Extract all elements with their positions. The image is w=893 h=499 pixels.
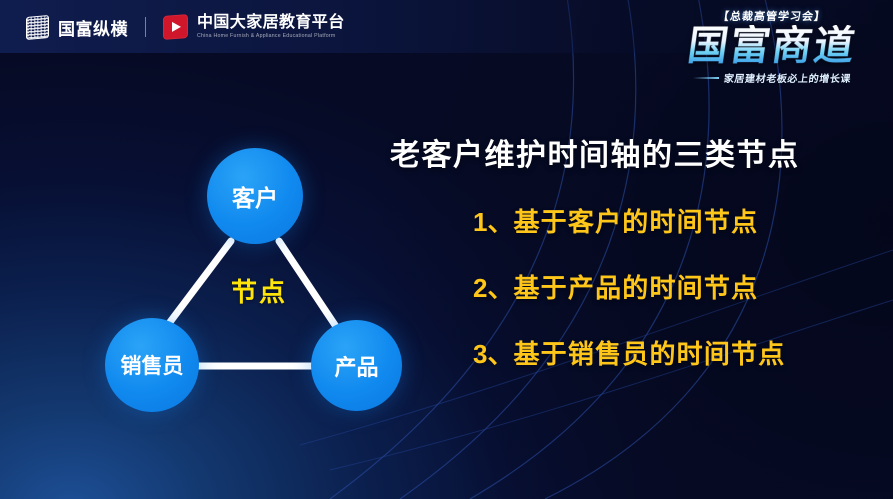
triangle-diagram: 客户 销售员 产品 节点 [85,138,425,428]
diagram-node-product[interactable]: 产品 [311,320,402,411]
brand-name-guofu: 国富纵横 [58,15,128,40]
diagram-center-label: 节点 [85,272,425,309]
list-item: 2、基于产品的时间节点 [473,268,880,305]
list-item-number: 1、 [473,207,513,237]
program-logo-kicker: 【总裁高管学习会】 [664,8,880,24]
partner-brand-en: China Home Furnish & Appliance Education… [197,34,345,39]
play-triangle-icon [172,22,181,32]
partner-brand-cn: 中国大家居教育平台 [197,15,345,31]
diagram-node-salesperson[interactable]: 销售员 [105,318,199,412]
page-title: 老客户维护时间轴的三类节点 [390,130,880,174]
list-item: 1、基于客户的时间节点 [473,202,880,239]
header-left-logos: 国富纵横 中国大家居教育平台 China Home Furnish & Appl… [26,12,345,42]
list-item-text: 基于销售员的时间节点 [513,339,785,369]
diagram-node-customer-label: 客户 [232,179,278,213]
list-item-text: 基于产品的时间节点 [513,273,758,303]
program-logo-subtitle: 家居建材老板必上的增长课 [723,70,852,85]
diagram-node-product-label: 产品 [334,350,378,382]
program-logo-subtitle-row: 家居建材老板必上的增长课 [665,70,879,85]
program-logo: 【总裁高管学习会】 国富商道 家居建材老板必上的增长课 [665,4,879,100]
qr-square-icon [26,14,49,39]
presentation-slide: 国富纵横 中国大家居教育平台 China Home Furnish & Appl… [0,0,893,499]
play-button-icon [163,14,188,40]
logo-divider [145,17,146,37]
slide-content: 老客户维护时间轴的三类节点 1、基于客户的时间节点 2、基于产品的时间节点 3、… [390,130,880,371]
partner-brand: 中国大家居教育平台 China Home Furnish & Appliance… [197,15,345,39]
diagram-node-customer[interactable]: 客户 [207,148,303,244]
bullet-list: 1、基于客户的时间节点 2、基于产品的时间节点 3、基于销售员的时间节点 [390,202,880,371]
list-item-number: 2、 [473,273,513,303]
list-item-text: 基于客户的时间节点 [513,207,758,237]
list-item-number: 3、 [473,339,513,369]
program-logo-title: 国富商道 [662,25,882,68]
program-logo-rule [693,77,719,79]
diagram-node-salesperson-label: 销售员 [121,350,184,380]
list-item: 3、基于销售员的时间节点 [473,334,880,371]
